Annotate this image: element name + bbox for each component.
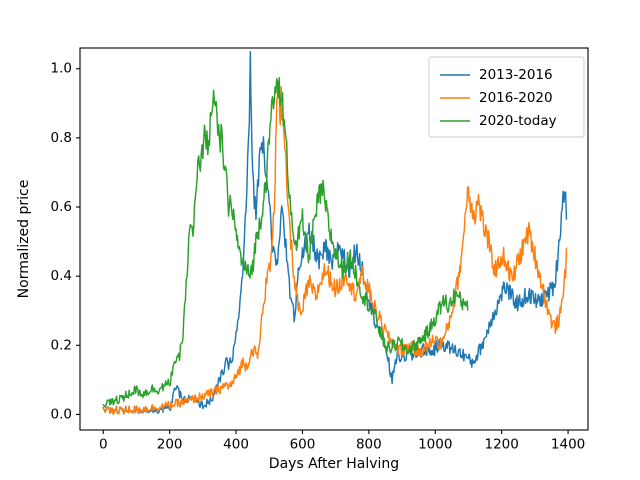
y-tick-label: 0.4: [51, 268, 72, 284]
x-tick-label: 1000: [418, 437, 452, 453]
y-tick-label: 0.6: [51, 199, 72, 215]
x-tick-label: 800: [356, 437, 382, 453]
y-tick-label: 1.0: [51, 61, 72, 77]
x-tick-label: 1200: [484, 437, 518, 453]
normalized-price-chart: 02004006008001000120014000.00.20.40.60.8…: [0, 0, 640, 480]
legend-label-3: 2020-today: [479, 113, 557, 129]
legend-label-1: 2013-2016: [479, 67, 553, 83]
y-tick-label: 0.8: [51, 130, 72, 146]
y-axis-title: Normalized price: [16, 180, 32, 299]
x-axis-title: Days After Halving: [269, 456, 399, 472]
legend-label-2: 2016-2020: [479, 90, 553, 106]
chart-figure: 02004006008001000120014000.00.20.40.60.8…: [0, 0, 640, 480]
legend[interactable]: 2013-20162016-20202020-today: [429, 57, 584, 137]
x-tick-label: 200: [157, 437, 183, 453]
x-tick-label: 400: [223, 437, 249, 453]
y-tick-label: 0.0: [51, 406, 72, 422]
x-tick-label: 600: [290, 437, 316, 453]
x-tick-label: 0: [99, 437, 108, 453]
x-tick-label: 1400: [551, 437, 585, 453]
y-tick-label: 0.2: [51, 337, 72, 353]
